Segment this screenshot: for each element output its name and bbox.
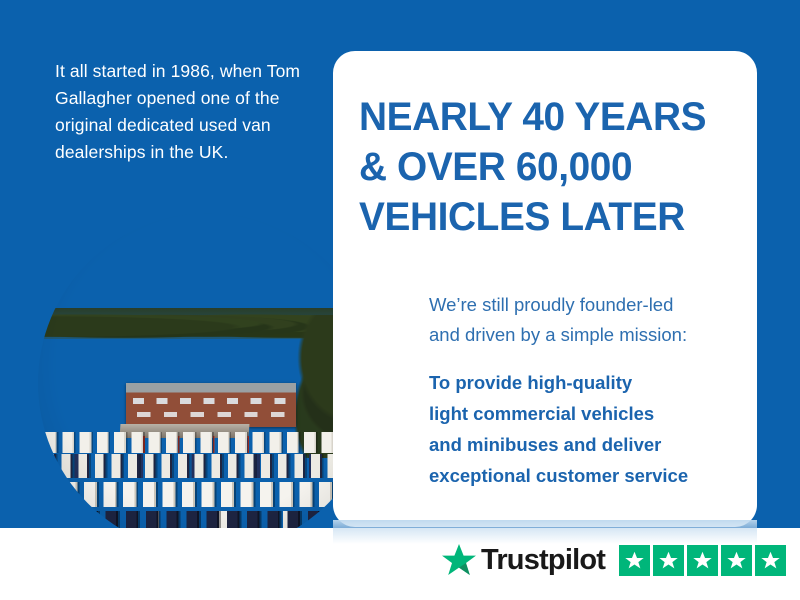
subheading: We’re still proudly founder-led and driv… (429, 290, 739, 350)
infographic-canvas: It all started in 1986, when Tom Gallagh… (0, 0, 800, 600)
subheading-line-2: and driven by a simple mission: (429, 320, 739, 350)
mission-line-1: To provide high-quality (429, 367, 749, 398)
headline-line-3: VEHICLES LATER (359, 192, 728, 242)
trustpilot-logo[interactable]: Trustpilot (441, 543, 605, 577)
trustpilot-star-1 (619, 545, 650, 576)
star-icon (658, 550, 679, 571)
subheading-line-1: We’re still proudly founder-led (429, 290, 739, 320)
trustpilot-stars[interactable] (619, 545, 786, 576)
star-icon (624, 550, 645, 571)
trustpilot-wordmark: Trustpilot (481, 546, 605, 575)
mission-line-2: light commercial vehicles (429, 398, 749, 429)
trustpilot-star-icon (441, 543, 477, 577)
intro-paragraph: It all started in 1986, when Tom Gallagh… (55, 58, 315, 166)
dealership-photo (38, 213, 378, 553)
star-icon (692, 550, 713, 571)
trustpilot-star-5 (755, 545, 786, 576)
star-icon (726, 550, 747, 571)
trustpilot-star-2 (653, 545, 684, 576)
mission-line-4: exceptional customer service (429, 460, 749, 491)
star-icon (760, 550, 781, 571)
page-title: NEARLY 40 YEARS & OVER 60,000 VEHICLES L… (359, 92, 728, 242)
headline-line-1: NEARLY 40 YEARS (359, 92, 728, 142)
trustpilot-star-4 (721, 545, 752, 576)
trustpilot-star-3 (687, 545, 718, 576)
photo-vignette (38, 213, 378, 553)
mission-statement: To provide high-quality light commercial… (429, 367, 749, 491)
mission-line-3: and minibuses and deliver (429, 429, 749, 460)
trustpilot-rating[interactable]: Trustpilot (441, 541, 786, 579)
content-card: NEARLY 40 YEARS & OVER 60,000 VEHICLES L… (333, 51, 757, 527)
headline-line-2: & OVER 60,000 (359, 142, 728, 192)
photo-scene (38, 213, 378, 553)
